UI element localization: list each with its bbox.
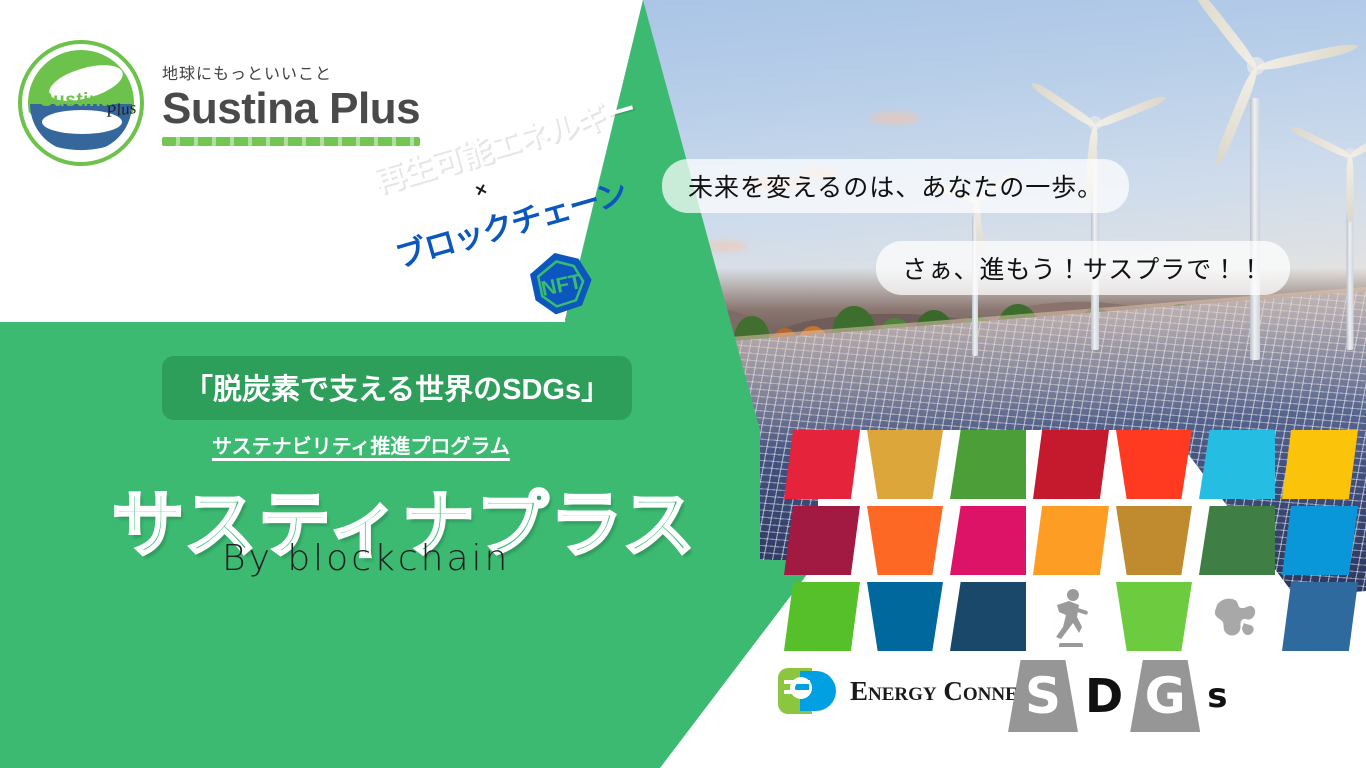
- sdgs-letter-d: D: [1078, 660, 1130, 732]
- sdg-tile: [1033, 430, 1109, 499]
- sdg-tile-fill: [867, 430, 943, 499]
- wind-turbine-icon: [1290, 150, 1366, 350]
- sdg-tile: [1116, 430, 1192, 499]
- sdg-color-grid: [760, 430, 1366, 680]
- globe-icon: [1211, 591, 1263, 643]
- sdg-row-2: [784, 506, 1358, 575]
- sdgs-wordmark: S D G s: [1008, 660, 1234, 732]
- sdg-tile: [867, 430, 943, 499]
- sdg-tile-fill: [784, 506, 860, 575]
- sdg-tile-fill: [950, 506, 1026, 575]
- sdg-tile-fill: [1199, 506, 1275, 575]
- sdg-row-1: [784, 430, 1358, 499]
- wind-turbine-icon: [1030, 118, 1160, 350]
- sdg-tile-fill: [867, 506, 943, 575]
- sdg-tile: [1282, 582, 1358, 651]
- speech-bubble-2: さぁ、進もう！サスプラで！！: [876, 241, 1290, 295]
- sdg-tile: [867, 506, 943, 575]
- sdg-tile-fill: [867, 582, 943, 651]
- sdg-tile: [1033, 506, 1109, 575]
- logo-mark-plus: Plus: [105, 98, 138, 122]
- sdg-tile-fill: [1116, 582, 1192, 651]
- speech-bubble-1: 未来を変えるのは、あなたの一歩。: [662, 159, 1129, 213]
- sdgs-letter-s: S: [1008, 660, 1078, 732]
- sdg-tile-fill: [1116, 430, 1192, 499]
- sdg-tile: [1282, 506, 1358, 575]
- sdg-tile-fill: [1282, 430, 1358, 499]
- sdg-tile: [1199, 430, 1275, 499]
- sdg-tile: [1033, 582, 1109, 651]
- sdg-tile: [867, 582, 943, 651]
- sdgs-letter-s2: s: [1200, 660, 1234, 732]
- sdg-tile-fill: [1199, 430, 1275, 499]
- sdg-tile: [784, 506, 860, 575]
- sdg-tile: [1282, 430, 1358, 499]
- sdg-tile-fill: [1282, 582, 1358, 651]
- sdg-tile: [1199, 506, 1275, 575]
- sdg-tile: [950, 506, 1026, 575]
- sdgs-letter-g: G: [1130, 660, 1200, 732]
- sdg-tile: [950, 430, 1026, 499]
- page-subtitle: By blockchain: [222, 538, 510, 579]
- program-subtitle: サステナビリティ推進プログラム: [212, 430, 510, 459]
- globe-icon: [1199, 582, 1275, 651]
- cloud-icon: [870, 112, 920, 124]
- sdg-tile: [1199, 582, 1275, 651]
- sdg-tile-fill: [950, 582, 1026, 651]
- sdg-tile: [1116, 582, 1192, 651]
- sdg-tile: [950, 582, 1026, 651]
- energy-connect-logo: Energy Connect: [778, 668, 1044, 714]
- energy-connect-mark-icon: [778, 668, 836, 714]
- running-person-icon: [1033, 582, 1109, 651]
- sdg-tile-fill: [1033, 506, 1109, 575]
- nft-badge-icon: NFT: [524, 246, 598, 320]
- logo-mark-icon: Sustina Plus: [18, 40, 144, 166]
- sdg-tile: [1116, 506, 1192, 575]
- sdg-tile: [784, 430, 860, 499]
- sdgs-letter-g-tile: G: [1130, 660, 1200, 732]
- sdgs-letter-s-tile: S: [1008, 660, 1078, 732]
- sdg-tile-fill: [950, 430, 1026, 499]
- brand-logo: Sustina Plus 地球にもっといいこと Sustina Plus: [18, 40, 420, 166]
- sdg-tile: [784, 582, 860, 651]
- sdg-tile-fill: [1116, 506, 1192, 575]
- brand-tagline: 地球にもっといいこと: [162, 60, 420, 84]
- sdg-tile-fill: [784, 582, 860, 651]
- logo-mark-word: Sustina: [40, 90, 112, 112]
- brand-underline: [162, 137, 420, 146]
- brand-name: Sustina Plus: [162, 86, 420, 132]
- running-person-icon: [1049, 587, 1093, 647]
- sdg-tile-fill: [784, 430, 860, 499]
- poster-canvas: Sustina Plus 地球にもっといいこと Sustina Plus 再生可…: [0, 0, 1366, 768]
- sdg-tile-fill: [1282, 506, 1358, 575]
- headline-band: 「脱炭素で支える世界のSDGs」: [162, 356, 632, 420]
- sdg-row-3: [784, 582, 1358, 651]
- sdg-tile-fill: [1033, 430, 1109, 499]
